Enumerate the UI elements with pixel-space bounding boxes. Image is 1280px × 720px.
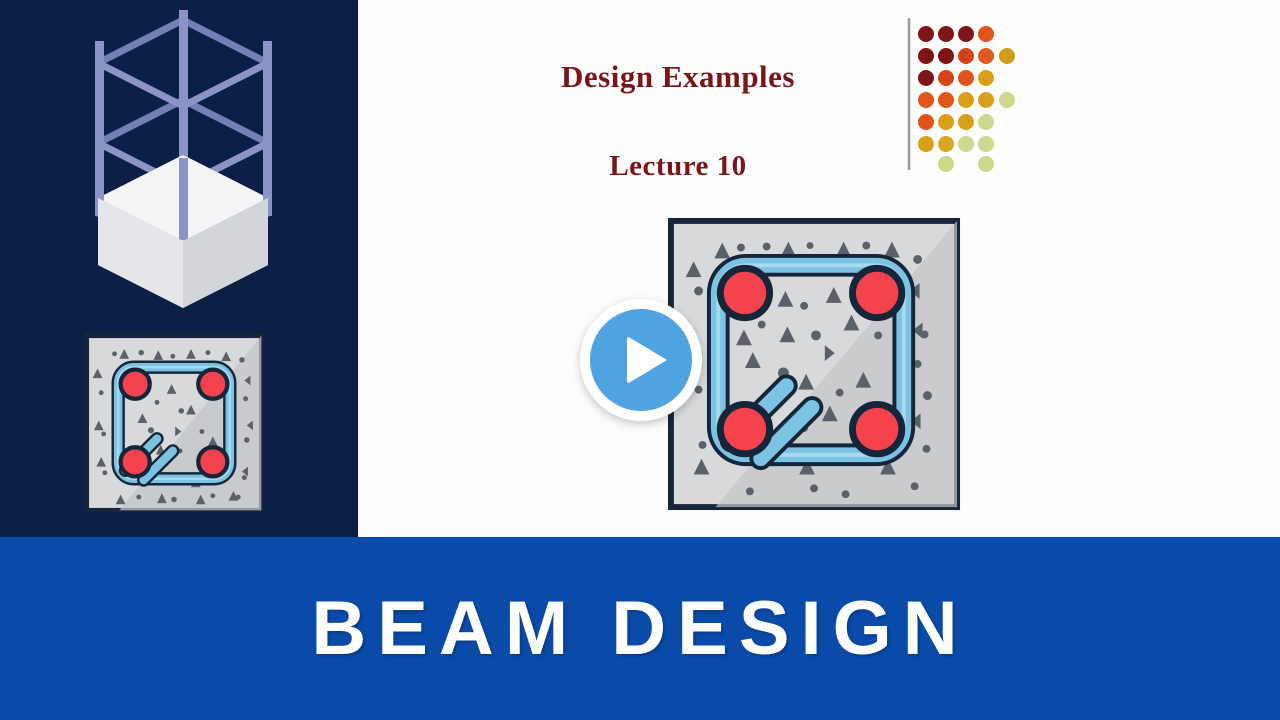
play-triangle-icon	[627, 336, 667, 384]
beam-cross-section-diagram	[664, 216, 964, 512]
video-thumbnail: Design Examples Lecture 10	[0, 0, 1280, 720]
banner-title: BEAM DESIGN	[311, 585, 968, 672]
beam-cross-section-icon-small	[82, 332, 266, 514]
dot-matrix-logo	[901, 14, 1021, 174]
right-panel: Design Examples Lecture 10	[358, 0, 1280, 537]
reinforced-concrete-column-illustration	[78, 8, 288, 308]
play-button-circle	[590, 309, 692, 411]
bottom-banner: BEAM DESIGN	[0, 537, 1280, 720]
play-button[interactable]	[580, 299, 702, 421]
logo-dots	[918, 26, 1015, 172]
left-panel	[0, 0, 358, 537]
